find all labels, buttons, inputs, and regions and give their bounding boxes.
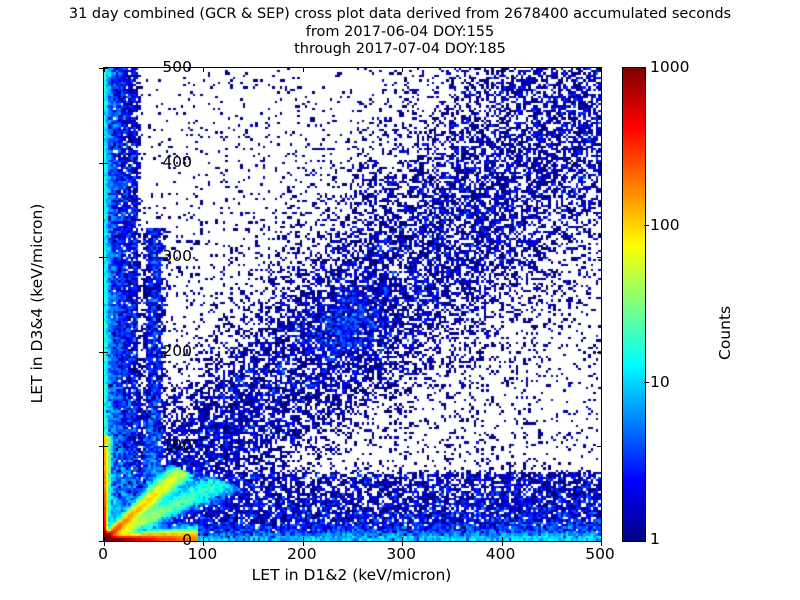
- plot-area: [103, 67, 602, 542]
- y-tick-mark-right: [597, 352, 601, 353]
- density-scatter-plot: [104, 68, 601, 541]
- x-tick-mark-inner: [303, 537, 304, 541]
- y-tick-label: 500: [162, 58, 192, 76]
- title-line-3: through 2017-07-04 DOY:185: [0, 41, 800, 59]
- x-axis-label: LET in D1&2 (keV/micron): [103, 566, 600, 584]
- x-tick-mark-top: [601, 68, 602, 72]
- x-tick-mark-top: [203, 68, 204, 72]
- y-tick-mark-inner: [104, 257, 108, 258]
- figure-canvas: 31 day combined (GCR & SEP) cross plot d…: [0, 0, 800, 600]
- x-tick-mark-inner: [203, 537, 204, 541]
- x-tick-label: 300: [386, 545, 416, 563]
- x-tick-mark-top: [303, 68, 304, 72]
- title-line-1: 31 day combined (GCR & SEP) cross plot d…: [0, 6, 800, 24]
- colorbar-gradient: [622, 67, 646, 542]
- x-tick-mark-inner: [402, 537, 403, 541]
- y-tick-mark-inner: [104, 446, 108, 447]
- y-tick-mark-right: [597, 257, 601, 258]
- colorbar-label: Counts: [716, 306, 734, 360]
- y-tick-label: 400: [162, 153, 192, 171]
- y-tick-mark-inner: [104, 352, 108, 353]
- x-tick-mark-inner: [601, 537, 602, 541]
- x-tick-mark-inner: [104, 537, 105, 541]
- x-tick-label: 500: [585, 545, 615, 563]
- x-tick-mark-top: [104, 68, 105, 72]
- y-tick-label: 300: [162, 247, 192, 265]
- y-tick-label: 100: [162, 436, 192, 454]
- colorbar-tick-label: 10: [650, 373, 670, 391]
- chart-title: 31 day combined (GCR & SEP) cross plot d…: [0, 6, 800, 59]
- y-tick-mark-right: [597, 446, 601, 447]
- colorbar-tick-mark: [644, 382, 649, 383]
- x-tick-label: 200: [287, 545, 317, 563]
- x-tick-mark-top: [502, 68, 503, 72]
- x-tick-label: 400: [486, 545, 516, 563]
- y-axis-label: LET in D3&4 (keV/micron): [28, 67, 46, 540]
- colorbar-tick-mark: [644, 225, 649, 226]
- y-tick-mark-right: [597, 163, 601, 164]
- y-tick-mark-inner: [104, 163, 108, 164]
- colorbar-tick-label: 100: [650, 216, 680, 234]
- y-tick-label: 200: [162, 342, 192, 360]
- colorbar-tick-label: 1: [650, 530, 660, 548]
- x-tick-mark-top: [402, 68, 403, 72]
- colorbar-tick-label: 1000: [650, 58, 689, 76]
- title-line-2: from 2017-06-04 DOY:155: [0, 24, 800, 42]
- x-tick-label: 100: [188, 545, 218, 563]
- x-tick-label: 0: [98, 545, 108, 563]
- colorbar: [622, 67, 644, 540]
- x-tick-mark-inner: [502, 537, 503, 541]
